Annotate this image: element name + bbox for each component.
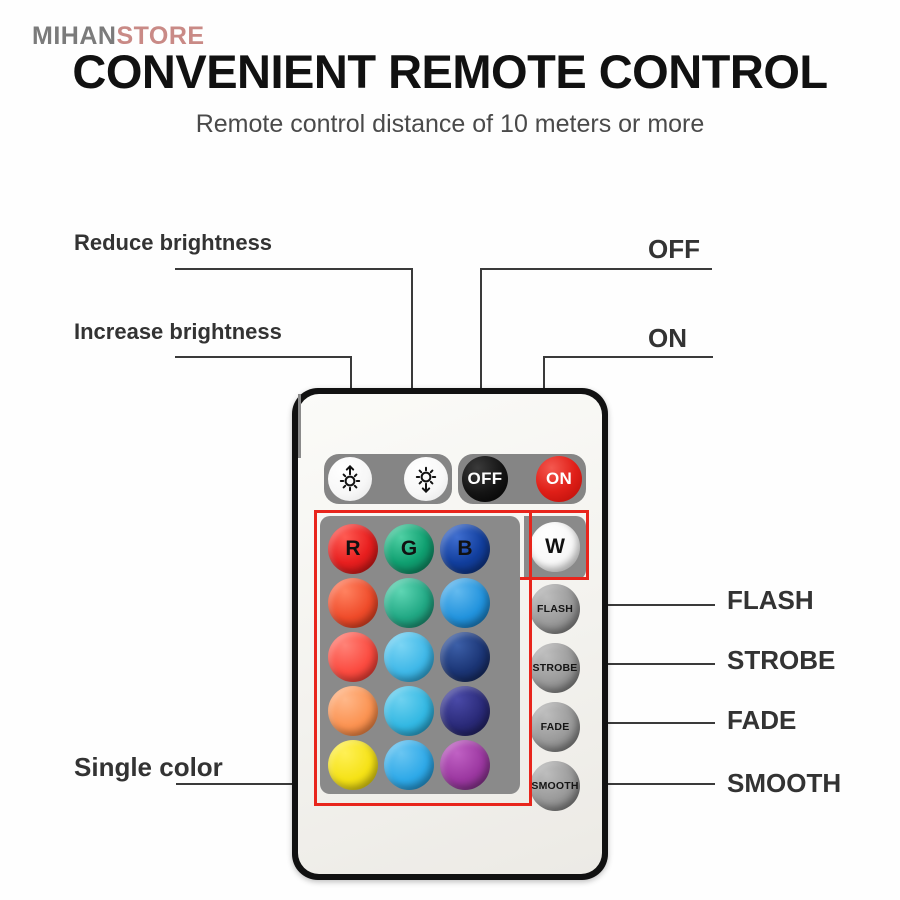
highlight-seam	[298, 394, 301, 458]
color-key-light-blue[interactable]	[384, 740, 434, 790]
power-button-group: OFF ON	[458, 454, 586, 504]
page-title: CONVENIENT REMOTE CONTROL	[0, 44, 900, 99]
color-key-orange-red[interactable]	[328, 578, 378, 628]
callout-single-color: Single color	[74, 752, 223, 783]
smooth-button[interactable]: SMOOTH	[530, 761, 580, 811]
callout-increase-brightness: Increase brightness	[74, 319, 282, 345]
on-button[interactable]: ON	[536, 456, 582, 502]
color-key-green[interactable]: G	[384, 524, 434, 574]
callout-fade: FADE	[727, 705, 796, 736]
brightness-button-group	[324, 454, 452, 504]
color-key-purple[interactable]	[440, 740, 490, 790]
callout-smooth: SMOOTH	[727, 768, 841, 799]
remote-control-device: OFF ON R G B	[292, 388, 608, 880]
flash-button[interactable]: FLASH	[530, 584, 580, 634]
color-key-navy[interactable]	[440, 632, 490, 682]
color-keypad-plate: R G B	[320, 516, 520, 794]
callout-reduce-brightness: Reduce brightness	[74, 230, 272, 256]
callout-on: ON	[648, 323, 687, 354]
color-key-cyan[interactable]	[384, 686, 434, 736]
callout-flash: FLASH	[727, 585, 814, 616]
page-subtitle: Remote control distance of 10 meters or …	[0, 110, 900, 139]
leader-line-off-h	[480, 268, 712, 270]
mode-key-column: FLASH STROBE FADE SMOOTH	[524, 516, 586, 794]
color-key-red[interactable]: R	[328, 524, 378, 574]
leader-line-reduce-brightness-h	[175, 268, 413, 270]
color-key-light-orange[interactable]	[328, 686, 378, 736]
flash-button-label: FLASH	[537, 603, 573, 615]
color-key-yellow[interactable]	[328, 740, 378, 790]
off-button-label: OFF	[468, 469, 503, 489]
increase-brightness-button[interactable]	[404, 457, 448, 501]
off-button[interactable]: OFF	[462, 456, 508, 502]
color-key-blue-label: B	[457, 537, 472, 561]
leader-line-on-h	[543, 356, 713, 358]
fade-button[interactable]: FADE	[530, 702, 580, 752]
on-button-label: ON	[546, 469, 572, 489]
color-key-blue[interactable]: B	[440, 524, 490, 574]
color-key-green-label: G	[401, 537, 417, 561]
diagram-canvas: MIHANSTORE CONVENIENT REMOTE CONTROL Rem…	[0, 0, 900, 900]
color-key-coral[interactable]	[328, 632, 378, 682]
smooth-button-label: SMOOTH	[531, 780, 578, 792]
leader-line-increase-brightness-h	[175, 356, 352, 358]
sun-up-icon	[335, 464, 365, 494]
color-key-sea-green[interactable]	[384, 578, 434, 628]
callout-strobe: STROBE	[727, 645, 835, 676]
color-key-azure[interactable]	[440, 578, 490, 628]
color-key-red-label: R	[345, 537, 360, 561]
strobe-button[interactable]: STROBE	[530, 643, 580, 693]
fade-button-label: FADE	[541, 721, 570, 733]
callout-off: OFF	[648, 234, 700, 265]
sun-down-icon	[411, 464, 441, 494]
reduce-brightness-button[interactable]	[328, 457, 372, 501]
color-key-sky-blue[interactable]	[384, 632, 434, 682]
strobe-button-label: STROBE	[533, 662, 578, 674]
color-key-indigo[interactable]	[440, 686, 490, 736]
remote-faceplate: OFF ON R G B	[298, 394, 602, 874]
